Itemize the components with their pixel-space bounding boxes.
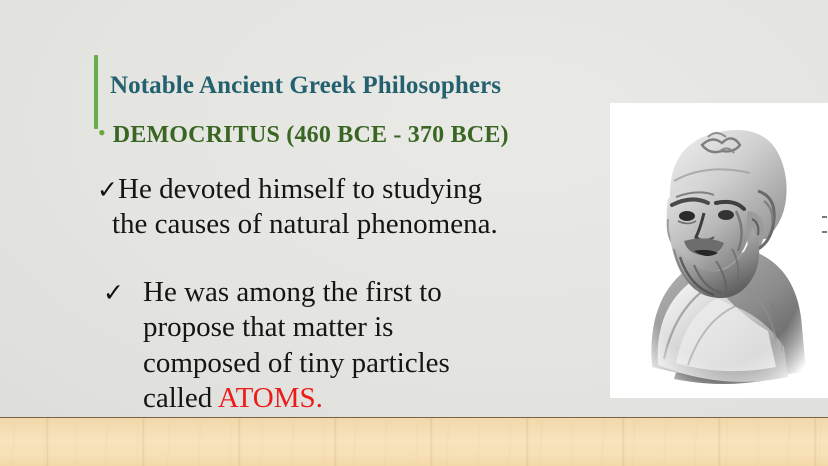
- check-mark-icon: ✓: [97, 178, 118, 203]
- title-accent-bar: [94, 55, 98, 129]
- page-title: Notable Ancient Greek Philosophers: [110, 72, 610, 100]
- check-item-2-line-1: He was among the first to: [143, 275, 613, 310]
- check-item-2-line-4-prefix: called: [143, 382, 218, 414]
- clipped-edge-marks: [822, 216, 828, 246]
- check-item-2-line-3: composed of tiny particles: [143, 346, 613, 381]
- check-item-2-line-4: called ATOMS.: [143, 381, 613, 416]
- check-mark-icon: ✓: [103, 281, 124, 306]
- wooden-table-surface: [0, 418, 828, 466]
- check-item-2-line-2: propose that matter is: [143, 310, 613, 345]
- democritus-bust-image: [624, 115, 820, 391]
- image-panel: [610, 103, 828, 398]
- check-item-1-line-2: the causes of natural phenomena.: [112, 207, 618, 242]
- bullet-label-democritus: DEMOCRITUS (460 BCE - 370 BCE): [113, 122, 509, 149]
- check-item-1-line-1: He devoted himself to studying: [118, 172, 618, 207]
- check-item-2: ✓ He was among the first to propose that…: [143, 275, 613, 417]
- atoms-keyword: ATOMS.: [218, 382, 323, 414]
- check-item-1: ✓ He devoted himself to studying the cau…: [118, 172, 618, 243]
- presentation-slide: Notable Ancient Greek Philosophers • DEM…: [0, 0, 828, 466]
- bullet-item-democritus: • DEMOCRITUS (460 BCE - 370 BCE): [98, 122, 638, 149]
- bullet-dot-icon: •: [98, 122, 106, 144]
